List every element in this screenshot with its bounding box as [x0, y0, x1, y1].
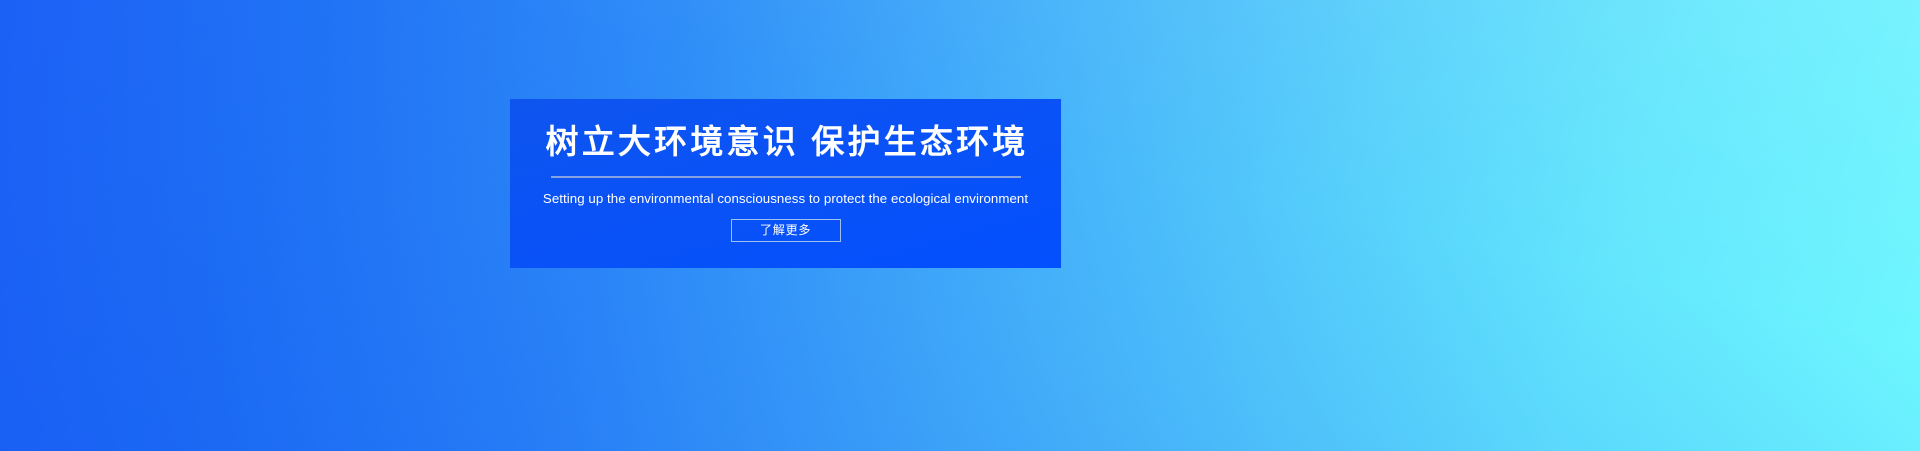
hero-subtitle: Setting up the environmental consciousne… — [543, 178, 1028, 206]
hero-card: 树立大环境意识 保护生态环境 Setting up the environmen… — [510, 99, 1061, 268]
title-divider — [551, 176, 1021, 178]
learn-more-button[interactable]: 了解更多 — [731, 219, 841, 242]
page-title: 树立大环境意识 保护生态环境 — [543, 125, 1029, 160]
hero-banner: 树立大环境意识 保护生态环境 Setting up the environmen… — [0, 0, 1920, 451]
